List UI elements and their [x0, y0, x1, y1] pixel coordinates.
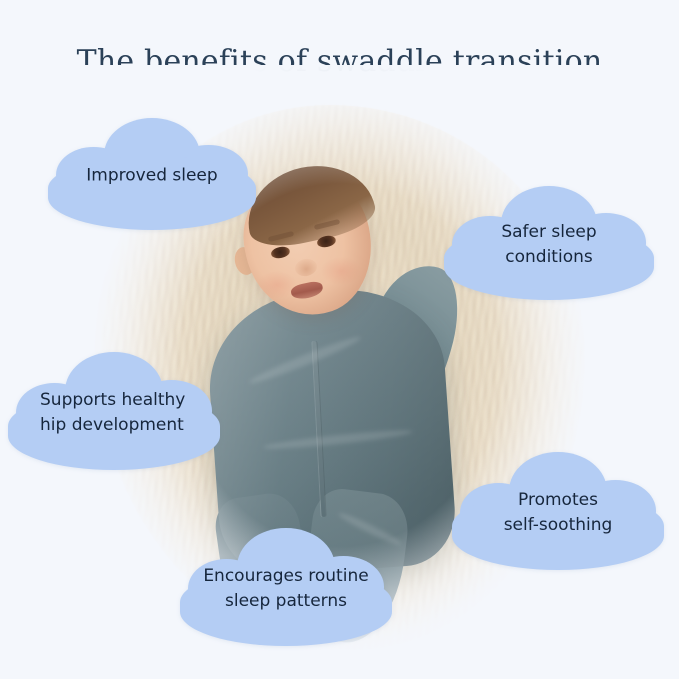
benefit-cloud-hip-development: Supports healthy hip development — [8, 352, 220, 470]
benefit-label: Safer sleep conditions — [444, 220, 654, 270]
benefit-cloud-safer-sleep: Safer sleep conditions — [444, 186, 654, 300]
benefit-cloud-routine-sleep: Encourages routine sleep patterns — [180, 528, 392, 646]
page-title: The benefits of swaddle transition — [0, 44, 679, 79]
benefit-cloud-self-soothing: Promotes self-soothing — [452, 452, 664, 570]
benefit-label: Promotes self-soothing — [452, 488, 664, 538]
benefit-label: Supports healthy hip development — [8, 388, 220, 438]
benefit-label: Encourages routine sleep patterns — [180, 564, 392, 614]
benefit-label: Improved sleep — [48, 164, 256, 189]
infographic-canvas: The benefits of swaddle transition — [0, 0, 679, 679]
benefit-cloud-improved-sleep: Improved sleep — [48, 118, 256, 230]
baby-cheek — [321, 257, 361, 285]
